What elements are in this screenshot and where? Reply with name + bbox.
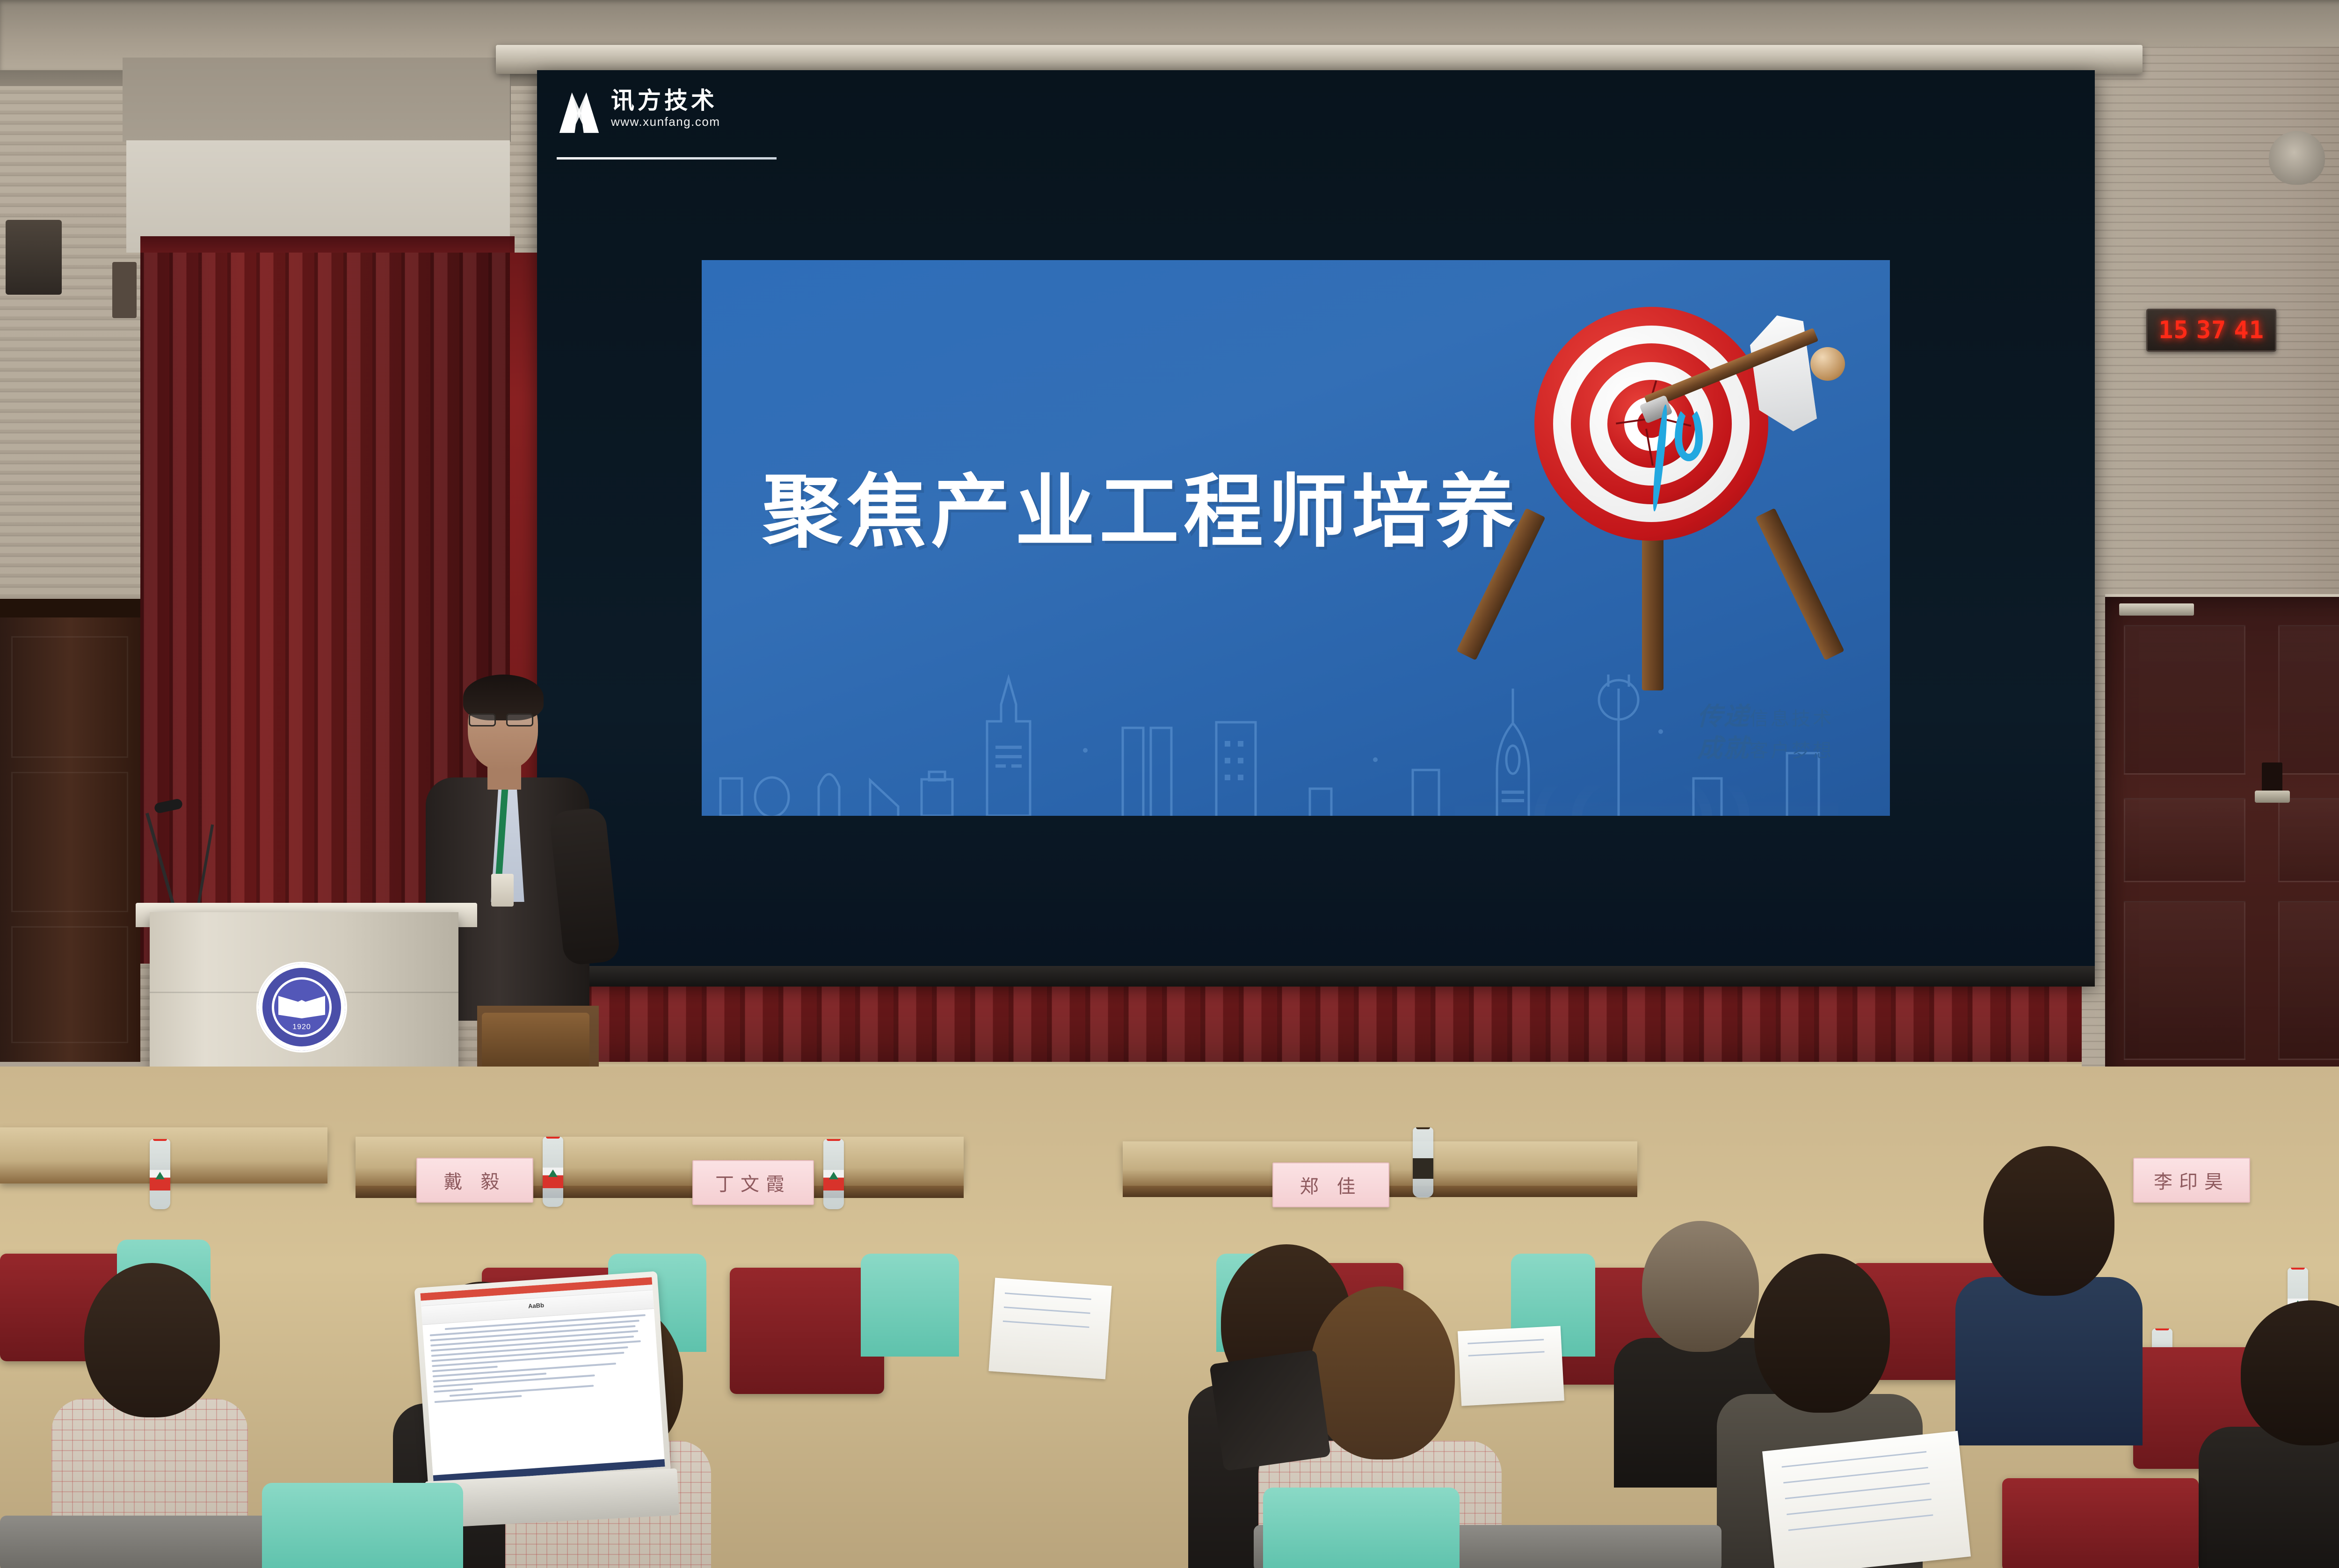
projector-screen-bottom-bar <box>537 966 2095 987</box>
door-right[interactable] <box>2105 594 2339 1095</box>
audience-member <box>2199 1300 2339 1568</box>
slide-content-panel: 聚焦产业工程师培养 <box>702 260 1890 816</box>
handout-paper <box>1762 1431 1971 1568</box>
name-placard: 郑 佳 <box>1272 1162 1389 1207</box>
handout-paper <box>1458 1326 1564 1406</box>
auditorium-seat[interactable] <box>2002 1478 2199 1568</box>
audience-head <box>84 1263 220 1417</box>
tagline-1-rest: 信息技术 <box>1750 709 1834 729</box>
name-placard: 丁文霞 <box>692 1160 814 1205</box>
stage-chair <box>482 1013 589 1069</box>
emblem-inner: 1920 <box>272 977 332 1037</box>
presenter-badge <box>491 874 514 907</box>
wall-speaker-left <box>6 220 62 295</box>
ceiling-speaker-right <box>2269 131 2325 185</box>
tagline-1-bold: 传递 <box>1697 703 1750 731</box>
cabinet-panel <box>11 926 128 1043</box>
cabinet-left <box>0 617 140 1062</box>
door-panel <box>2278 901 2339 1060</box>
wall-panel-upper <box>123 58 511 142</box>
audience-head <box>1983 1146 2114 1296</box>
audience-area: 戴 毅 丁文霞 郑 佳 李印昊 <box>0 1067 2339 1568</box>
handout-paper <box>988 1278 1111 1379</box>
projector-screen-case <box>496 45 2143 74</box>
audience-head <box>1310 1286 1455 1459</box>
university-emblem: 1920 <box>256 962 347 1053</box>
name-placard: 戴 毅 <box>416 1158 533 1203</box>
door-panel <box>2124 625 2245 775</box>
ribbon-style-sample: AaBb <box>528 1301 545 1309</box>
emblem-year: 1920 <box>272 1023 332 1031</box>
door-panel <box>2124 901 2245 1060</box>
tagline-2-bold: 成就 <box>1697 734 1750 762</box>
audience-torso <box>1955 1277 2143 1445</box>
handbag <box>1209 1350 1331 1471</box>
cabinet-panel <box>11 772 128 912</box>
auditorium-seat-back[interactable] <box>1263 1488 1460 1568</box>
auditorium-seat-back[interactable] <box>861 1254 959 1357</box>
slide-tagline: 传递信息技术 成就客户梦想 <box>1697 701 1834 764</box>
door-panel <box>2278 798 2339 882</box>
glasses-icon <box>469 713 537 727</box>
slide-title: 聚焦产业工程师培养 <box>763 447 1520 562</box>
wall-panel-white <box>126 140 510 253</box>
water-bottle <box>1413 1127 1433 1198</box>
auditorium-scene: 15 37 41 <box>0 0 2339 1568</box>
audience-member <box>1955 1146 2143 1445</box>
tagline-line-2: 成就客户梦想 <box>1697 733 1834 765</box>
cabinet-panel <box>11 636 128 758</box>
water-bottle <box>823 1139 844 1209</box>
emblem-ring: 1920 <box>258 964 345 1051</box>
brand-url: www.xunfang.com <box>611 115 720 129</box>
clock-hours: 15 <box>2158 316 2189 344</box>
arrow-nock <box>1810 347 1845 381</box>
clock-seconds: 41 <box>2234 316 2264 344</box>
audience-torso <box>2199 1427 2339 1568</box>
audience-head <box>2241 1300 2339 1445</box>
name-placard: 李印昊 <box>2133 1158 2250 1203</box>
door-panel <box>2124 798 2245 882</box>
door-handle[interactable] <box>2255 791 2290 803</box>
open-book-icon <box>278 996 325 1018</box>
target-leg <box>1755 508 1844 661</box>
door-closer <box>2119 603 2194 616</box>
wall-fixture-left <box>112 262 137 318</box>
projection-screen: 讯方技术 www.xunfang.com 聚焦产业工程师培养 <box>537 70 2095 982</box>
led-clock: 15 37 41 <box>2146 309 2276 352</box>
audience-head <box>1754 1254 1890 1413</box>
brand-logo: 讯方技术 www.xunfang.com <box>557 89 800 150</box>
xunfang-mark-icon <box>557 89 602 136</box>
water-bottle <box>150 1139 170 1209</box>
clock-minutes: 37 <box>2196 316 2227 344</box>
laptop-lid: AaBb <box>414 1271 671 1488</box>
brand-underline <box>557 157 777 160</box>
door-panel <box>2278 625 2339 775</box>
auditorium-seat-back[interactable] <box>262 1483 463 1568</box>
cabinet-top-strip <box>0 599 140 619</box>
water-bottle <box>543 1137 563 1207</box>
target-leg <box>1456 508 1545 661</box>
tagline-line-1: 传递信息技术 <box>1697 701 1834 733</box>
document-page[interactable] <box>422 1309 664 1475</box>
brand-name-cn: 讯方技术 <box>611 89 720 113</box>
laptop-screen[interactable]: AaBb <box>420 1277 665 1483</box>
tagline-2-rest: 客户梦想 <box>1750 740 1834 761</box>
